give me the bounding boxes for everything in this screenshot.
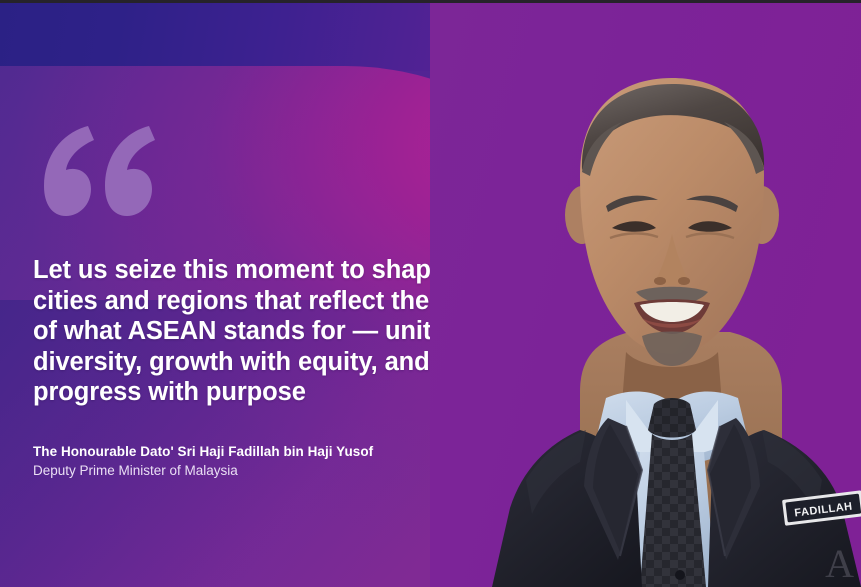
quote-slide: Let us seize this moment to shape cities… — [0, 0, 861, 587]
speaker-portrait: FADILLAH — [430, 0, 861, 587]
corner-watermark: A — [825, 543, 855, 585]
top-edge-strip — [0, 0, 861, 3]
open-quote-icon — [34, 124, 164, 234]
